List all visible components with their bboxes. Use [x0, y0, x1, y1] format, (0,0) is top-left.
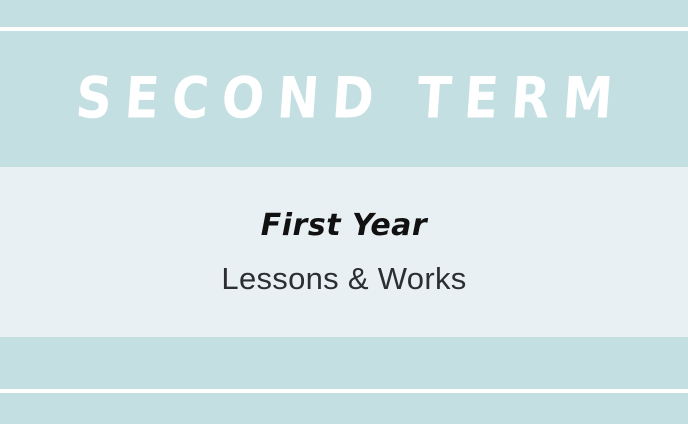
bottom-white-divider-line	[0, 389, 688, 393]
subtitle-container: First Year Lessons & Works	[0, 167, 688, 337]
bottom-teal-band	[0, 337, 688, 424]
poster-title: SECOND TERM	[61, 70, 628, 127]
poster-subheading: Lessons & Works	[221, 263, 466, 294]
top-white-divider-line	[0, 27, 688, 31]
poster-heading: First Year	[261, 211, 427, 241]
title-container: SECOND TERM	[0, 58, 688, 138]
poster-canvas: SECOND TERM First Year Lessons & Works	[0, 0, 688, 424]
